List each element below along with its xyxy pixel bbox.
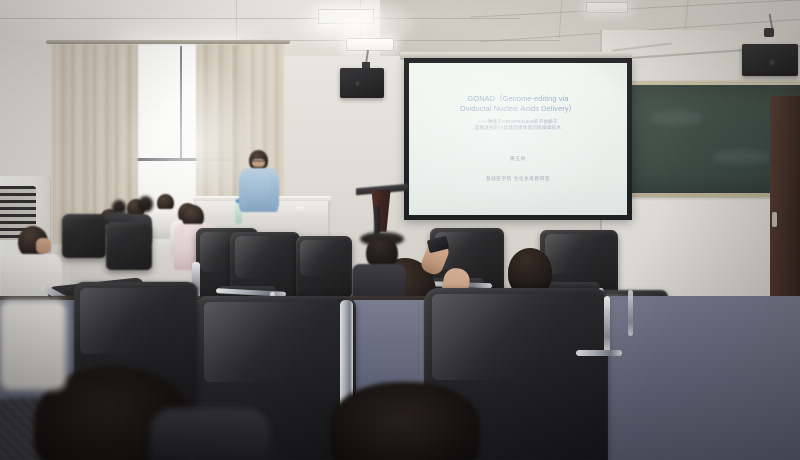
slide-title-line1: GONAD（Genome-editing via <box>409 94 627 104</box>
window-mullion <box>180 46 182 158</box>
foreground-shoulder <box>150 408 270 460</box>
chalk-smudge <box>650 110 702 126</box>
audience-head <box>138 196 153 212</box>
slide-affiliation: 基础医学院 生化免疫教研室 <box>409 175 627 182</box>
slide-title-line2: Oviductal Nucleic Acids Delivery） <box>409 104 627 114</box>
ceiling-light <box>586 2 628 13</box>
speaker-bracket <box>764 28 774 37</box>
chair-leg <box>604 296 610 354</box>
curtain-rod <box>46 40 290 44</box>
ceiling-tile-line <box>0 18 520 19</box>
paper-cup <box>296 206 304 216</box>
presenter-arm-left <box>239 176 247 210</box>
lecture-room-photo: GONAD（Genome-editing via Oviductal Nucle… <box>0 0 800 460</box>
slide-presenter-name: 黄玉娟 <box>409 156 627 163</box>
foreground-head <box>330 382 480 460</box>
chair-backrest[interactable] <box>106 222 152 270</box>
speaker-cone <box>354 80 361 87</box>
ceiling-light <box>318 9 374 24</box>
chalk-smudge <box>712 150 772 164</box>
wall-speaker-left <box>340 68 384 98</box>
chair-backrest[interactable] <box>62 214 106 258</box>
ceiling-light <box>346 38 394 51</box>
door-handle-icon[interactable] <box>772 212 777 227</box>
chair-foot <box>576 350 622 356</box>
slide-content: GONAD（Genome-editing via Oviductal Nucle… <box>409 63 627 215</box>
presenter-glasses <box>252 160 265 162</box>
foreground-shoulder <box>0 300 66 390</box>
slide-subtitle-line2: 显微注射的小鼠基因组体基因组编辑技术 <box>409 125 627 131</box>
chair-leg <box>628 290 633 336</box>
speaker-cone <box>768 58 776 66</box>
audience-face <box>36 238 51 254</box>
chair-backrest[interactable] <box>296 236 352 298</box>
presenter-arm-right <box>270 176 279 208</box>
